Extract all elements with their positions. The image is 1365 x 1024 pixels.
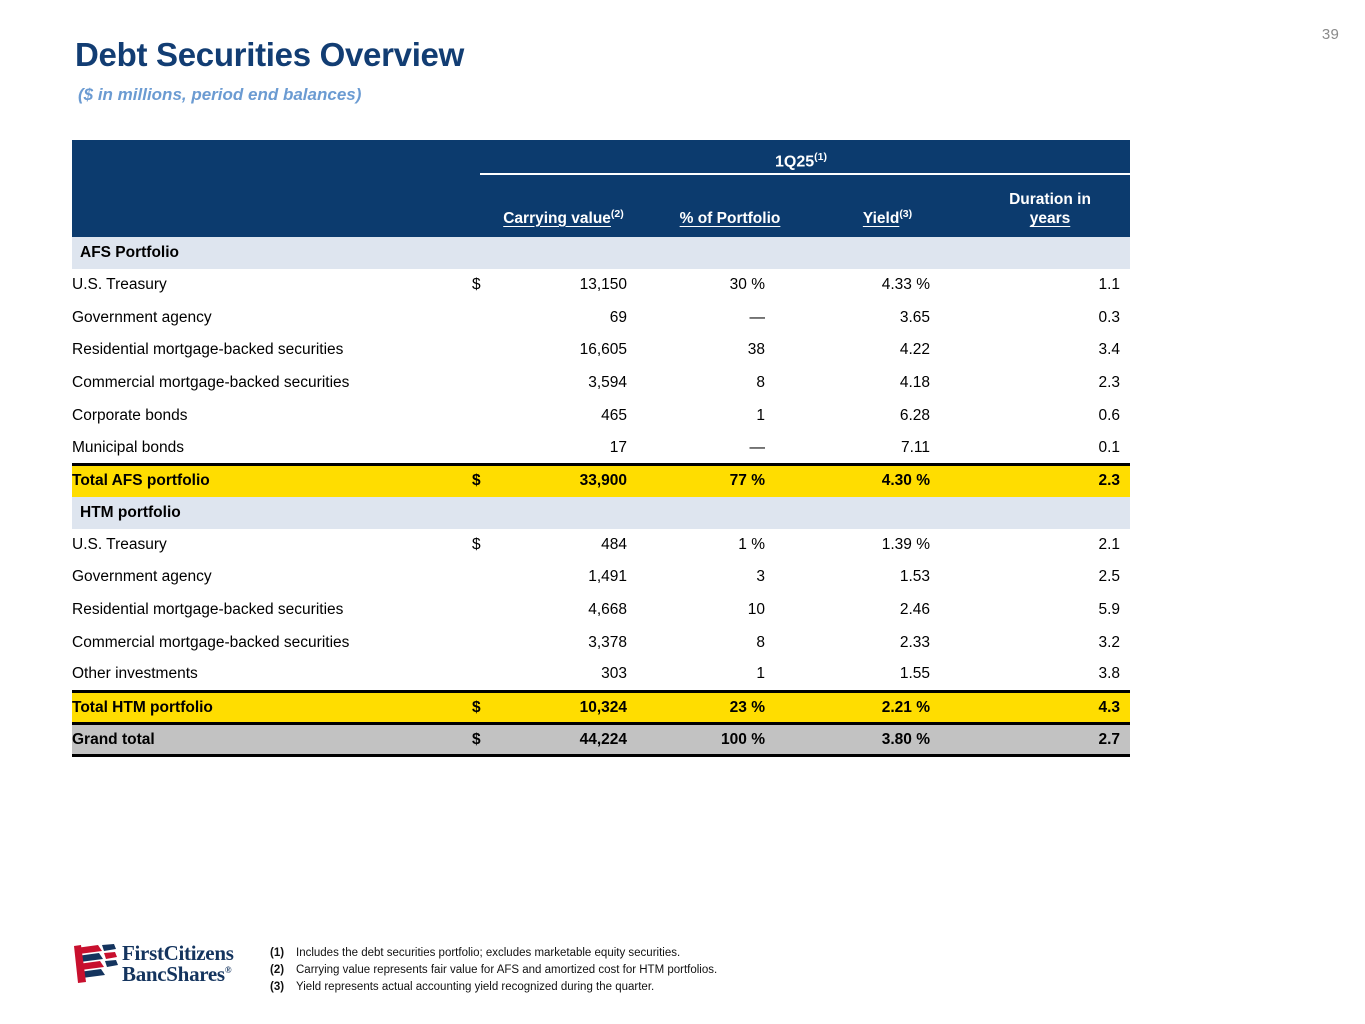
row-yield: 4.22 bbox=[805, 334, 970, 367]
row-pct-portfolio: — bbox=[655, 432, 805, 465]
footnote-item: (1) Includes the debt securities portfol… bbox=[270, 945, 717, 962]
grand-total-carrying-value: 44,224 bbox=[510, 724, 655, 756]
section-heading-htm: HTM portfolio bbox=[72, 497, 1130, 529]
row-currency bbox=[472, 302, 510, 335]
row-label: U.S. Treasury bbox=[72, 269, 472, 302]
row-currency bbox=[472, 399, 510, 432]
logo-line-2-wrap: BancShares® bbox=[122, 964, 234, 985]
table-row: Commercial mortgage-backed securities 3,… bbox=[72, 367, 1130, 400]
row-currency bbox=[472, 659, 510, 692]
page-subtitle: ($ in millions, period end balances) bbox=[78, 85, 361, 105]
footnote-item: (3) Yield represents actual accounting y… bbox=[270, 979, 717, 996]
period-text: 1Q25 bbox=[775, 153, 814, 170]
row-currency bbox=[472, 334, 510, 367]
row-pct-portfolio: 8 bbox=[655, 626, 805, 659]
row-yield: 2.33 bbox=[805, 626, 970, 659]
row-duration: 2.3 bbox=[970, 367, 1130, 400]
row-duration: 0.3 bbox=[970, 302, 1130, 335]
row-label: Residential mortgage-backed securities bbox=[72, 334, 472, 367]
row-carrying-value: 4,668 bbox=[510, 594, 655, 627]
total-row-htm: Total HTM portfolio $ 10,324 23 % 2.21 %… bbox=[72, 692, 1130, 724]
pct-portfolio-label: % of Portfolio bbox=[680, 210, 781, 227]
grand-total-yield: 3.80 % bbox=[805, 724, 970, 756]
row-currency bbox=[472, 561, 510, 594]
footnote-marker: (2) bbox=[270, 962, 296, 979]
footnote-text: Yield represents actual accounting yield… bbox=[296, 979, 654, 996]
total-yield: 4.30 % bbox=[805, 465, 970, 497]
row-carrying-value: 16,605 bbox=[510, 334, 655, 367]
grand-total-currency: $ bbox=[472, 724, 510, 756]
table-row: U.S. Treasury $ 13,150 30 % 4.33 % 1.1 bbox=[72, 269, 1130, 302]
row-yield: 6.28 bbox=[805, 399, 970, 432]
total-row-afs: Total AFS portfolio $ 33,900 77 % 4.30 %… bbox=[72, 465, 1130, 497]
company-logo: FirstCitizens BancShares® bbox=[72, 936, 252, 992]
row-pct-portfolio: 38 bbox=[655, 334, 805, 367]
table-head: 1Q25(1) Carrying value(2) % of Portfolio… bbox=[72, 140, 1130, 237]
table-row: Municipal bonds 17 — 7.11 0.1 bbox=[72, 432, 1130, 465]
total-pct-portfolio: 23 % bbox=[655, 692, 805, 724]
row-carrying-value: 1,491 bbox=[510, 561, 655, 594]
row-carrying-value: 3,594 bbox=[510, 367, 655, 400]
row-duration: 5.9 bbox=[970, 594, 1130, 627]
footer: FirstCitizens BancShares® (1) Includes t… bbox=[72, 934, 1072, 996]
debt-securities-table: 1Q25(1) Carrying value(2) % of Portfolio… bbox=[72, 140, 1130, 757]
row-currency bbox=[472, 367, 510, 400]
row-duration: 0.1 bbox=[970, 432, 1130, 465]
row-pct-portfolio: 30 % bbox=[655, 269, 805, 302]
total-duration: 4.3 bbox=[970, 692, 1130, 724]
column-header-pct-portfolio: % of Portfolio bbox=[655, 175, 805, 237]
row-currency bbox=[472, 626, 510, 659]
row-duration: 0.6 bbox=[970, 399, 1130, 432]
section-heading-htm-label: HTM portfolio bbox=[72, 497, 1130, 529]
grand-total-duration: 2.7 bbox=[970, 724, 1130, 756]
row-carrying-value: 303 bbox=[510, 659, 655, 692]
footnote-marker: (3) bbox=[270, 979, 296, 996]
registered-icon: ® bbox=[225, 965, 231, 975]
row-yield: 3.65 bbox=[805, 302, 970, 335]
row-label: Corporate bonds bbox=[72, 399, 472, 432]
period-footnote-ref: (1) bbox=[814, 151, 827, 163]
row-currency: $ bbox=[472, 269, 510, 302]
row-yield: 1.53 bbox=[805, 561, 970, 594]
row-yield: 4.18 bbox=[805, 367, 970, 400]
row-label: Government agency bbox=[72, 302, 472, 335]
total-yield: 2.21 % bbox=[805, 692, 970, 724]
row-label: U.S. Treasury bbox=[72, 529, 472, 562]
total-currency: $ bbox=[472, 692, 510, 724]
row-carrying-value: 484 bbox=[510, 529, 655, 562]
row-duration: 3.2 bbox=[970, 626, 1130, 659]
logo-wordmark: FirstCitizens BancShares® bbox=[122, 943, 234, 986]
row-pct-portfolio: 8 bbox=[655, 367, 805, 400]
table-row: Government agency 1,491 3 1.53 2.5 bbox=[72, 561, 1130, 594]
row-duration: 2.5 bbox=[970, 561, 1130, 594]
section-heading-afs: AFS Portfolio bbox=[72, 237, 1130, 269]
row-pct-portfolio: 1 bbox=[655, 659, 805, 692]
yield-label: Yield bbox=[863, 210, 899, 227]
row-label: Commercial mortgage-backed securities bbox=[72, 367, 472, 400]
total-label: Total AFS portfolio bbox=[72, 465, 472, 497]
total-label: Total HTM portfolio bbox=[72, 692, 472, 724]
row-yield: 4.33 % bbox=[805, 269, 970, 302]
first-citizens-flag-icon bbox=[72, 942, 118, 986]
table-row: Residential mortgage-backed securities 4… bbox=[72, 594, 1130, 627]
row-duration: 3.4 bbox=[970, 334, 1130, 367]
section-heading-afs-label: AFS Portfolio bbox=[72, 237, 1130, 269]
footnote-text: Carrying value represents fair value for… bbox=[296, 962, 717, 979]
row-pct-portfolio: 10 bbox=[655, 594, 805, 627]
row-carrying-value: 465 bbox=[510, 399, 655, 432]
grand-total-row: Grand total $ 44,224 100 % 3.80 % 2.7 bbox=[72, 724, 1130, 756]
footnote-item: (2) Carrying value represents fair value… bbox=[270, 962, 717, 979]
row-yield: 7.11 bbox=[805, 432, 970, 465]
logo-line-1: FirstCitizens bbox=[122, 943, 234, 964]
row-pct-portfolio: — bbox=[655, 302, 805, 335]
row-carrying-value: 69 bbox=[510, 302, 655, 335]
period-header-row: 1Q25(1) bbox=[72, 140, 1130, 173]
row-yield: 2.46 bbox=[805, 594, 970, 627]
footnote-text: Includes the debt securities portfolio; … bbox=[296, 945, 680, 962]
column-header-row: Carrying value(2) % of Portfolio Yield(3… bbox=[72, 175, 1130, 237]
row-carrying-value: 17 bbox=[510, 432, 655, 465]
page-title: Debt Securities Overview bbox=[75, 36, 464, 74]
row-carrying-value: 13,150 bbox=[510, 269, 655, 302]
table-row: Government agency 69 — 3.65 0.3 bbox=[72, 302, 1130, 335]
row-yield: 1.39 % bbox=[805, 529, 970, 562]
yield-footnote-ref: (3) bbox=[899, 208, 912, 220]
row-pct-portfolio: 1 % bbox=[655, 529, 805, 562]
grand-total-pct-portfolio: 100 % bbox=[655, 724, 805, 756]
footnotes: (1) Includes the debt securities portfol… bbox=[270, 945, 717, 996]
carrying-value-footnote-ref: (2) bbox=[611, 208, 624, 220]
grand-total-label: Grand total bbox=[72, 724, 472, 756]
row-label: Residential mortgage-backed securities bbox=[72, 594, 472, 627]
period-header-cell: 1Q25(1) bbox=[472, 140, 1130, 173]
row-duration: 1.1 bbox=[970, 269, 1130, 302]
table-row: Residential mortgage-backed securities 1… bbox=[72, 334, 1130, 367]
period-label: 1Q25(1) bbox=[472, 143, 1130, 170]
row-carrying-value: 3,378 bbox=[510, 626, 655, 659]
logo-line-2: BancShares bbox=[122, 962, 225, 986]
row-yield: 1.55 bbox=[805, 659, 970, 692]
column-header-carrying-value: Carrying value(2) bbox=[472, 175, 655, 237]
period-header-spacer bbox=[72, 140, 472, 173]
table-row: Corporate bonds 465 1 6.28 0.6 bbox=[72, 399, 1130, 432]
total-carrying-value: 33,900 bbox=[510, 465, 655, 497]
row-currency: $ bbox=[472, 529, 510, 562]
row-pct-portfolio: 3 bbox=[655, 561, 805, 594]
table-row: Commercial mortgage-backed securities 3,… bbox=[72, 626, 1130, 659]
debt-securities-table-wrap: 1Q25(1) Carrying value(2) % of Portfolio… bbox=[72, 140, 1130, 757]
row-currency bbox=[472, 432, 510, 465]
row-pct-portfolio: 1 bbox=[655, 399, 805, 432]
column-header-yield: Yield(3) bbox=[805, 175, 970, 237]
row-duration: 3.8 bbox=[970, 659, 1130, 692]
page-number: 39 bbox=[1322, 26, 1339, 43]
total-pct-portfolio: 77 % bbox=[655, 465, 805, 497]
row-label: Commercial mortgage-backed securities bbox=[72, 626, 472, 659]
table-body: AFS Portfolio U.S. Treasury $ 13,150 30 … bbox=[72, 237, 1130, 756]
column-header-duration: Duration inyears bbox=[970, 175, 1130, 237]
slide: 39 Debt Securities Overview ($ in millio… bbox=[0, 0, 1365, 1024]
table-row: U.S. Treasury $ 484 1 % 1.39 % 2.1 bbox=[72, 529, 1130, 562]
footnote-marker: (1) bbox=[270, 945, 296, 962]
carrying-value-label: Carrying value bbox=[503, 210, 611, 227]
total-currency: $ bbox=[472, 465, 510, 497]
duration-label-line1: Duration in bbox=[970, 191, 1130, 209]
row-duration: 2.1 bbox=[970, 529, 1130, 562]
row-currency bbox=[472, 594, 510, 627]
row-label: Government agency bbox=[72, 561, 472, 594]
table-row: Other investments 303 1 1.55 3.8 bbox=[72, 659, 1130, 692]
column-header-label-spacer bbox=[72, 175, 472, 237]
duration-label-line2: years bbox=[970, 210, 1130, 228]
total-duration: 2.3 bbox=[970, 465, 1130, 497]
row-label: Other investments bbox=[72, 659, 472, 692]
total-carrying-value: 10,324 bbox=[510, 692, 655, 724]
row-label: Municipal bonds bbox=[72, 432, 472, 465]
